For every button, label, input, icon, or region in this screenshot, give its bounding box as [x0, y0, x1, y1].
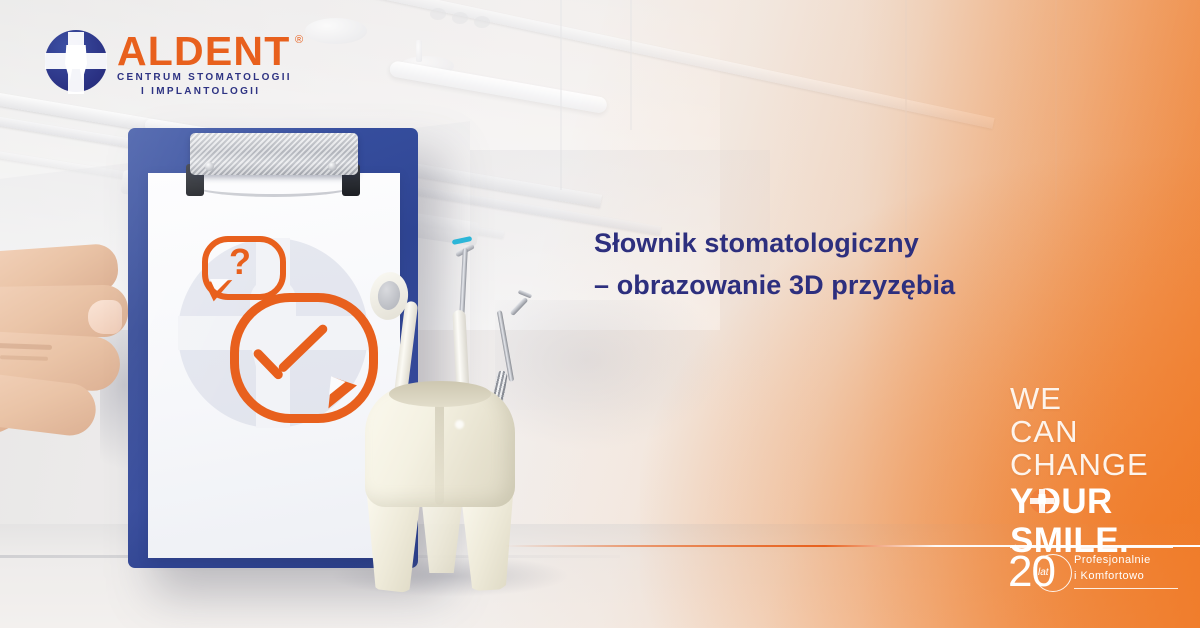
clip-screw-icon: [328, 162, 337, 171]
clip-screw-icon: [205, 162, 214, 171]
anniversary-badge: 20 lat Profesjonalnie i Komfortowo: [1008, 552, 1183, 600]
banner-canvas: ? ALDENT ® CENTRUM STOMATOLOGII I IMPLAN…: [0, 0, 1200, 628]
brand-subtitle-line-1: CENTRUM STOMATOLOGII: [117, 72, 292, 83]
headline: Słownik stomatologiczny – obrazowanie 3D…: [594, 222, 1024, 306]
tooth-root: [367, 495, 421, 593]
badge-tagline-line-2: i Komfortowo: [1074, 570, 1144, 582]
slogan-line-we: WE: [1010, 382, 1170, 415]
slogan-your-text: YOUR: [1010, 482, 1113, 521]
headline-line-2: – obrazowanie 3D przyzębia: [594, 264, 1024, 306]
checkmark-icon: [253, 318, 339, 382]
slogan-line-your-wrap: YOUR: [1010, 483, 1170, 520]
clipboard-metal-clip: [190, 133, 358, 175]
slogan-block: WE CAN CHANGE YOUR SMILE.: [1010, 382, 1170, 559]
badge-tagline-line-1: Profesjonalnie: [1074, 554, 1151, 566]
aldent-tooth-cross-logo-icon: [45, 30, 107, 92]
slogan-line-can: CAN: [1010, 415, 1170, 448]
tooth-root: [461, 495, 513, 591]
fingernail: [88, 300, 122, 334]
clipboard-clip-foot: [186, 164, 204, 196]
headline-line-1: Słownik stomatologiczny: [594, 228, 919, 258]
question-mark-glyph: ?: [225, 240, 255, 284]
aldent-tooth-cross-mark-icon: [1030, 489, 1054, 513]
registered-trademark-icon: ®: [295, 34, 303, 46]
hand-holding-clipboard: [0, 248, 135, 463]
brand-wordmark: ALDENT: [117, 28, 290, 74]
tooth-highlight: [455, 420, 464, 429]
badge-years-unit: lat: [1038, 567, 1049, 578]
clipboard-clip-wire: [190, 172, 358, 197]
ceramic-tooth-pen-holder: [365, 385, 515, 590]
slogan-line-change: CHANGE: [1010, 448, 1170, 481]
brand-subtitle-line-2: I IMPLANTOLOGII: [141, 86, 260, 97]
slogan-line-your: YOUR: [1010, 483, 1113, 520]
clipboard-clip-foot: [342, 164, 360, 196]
aldent-logo[interactable]: ALDENT ® CENTRUM STOMATOLOGII I IMPLANTO…: [45, 28, 285, 106]
tooth-holder-opening: [389, 381, 491, 407]
badge-underline: [1074, 588, 1178, 589]
